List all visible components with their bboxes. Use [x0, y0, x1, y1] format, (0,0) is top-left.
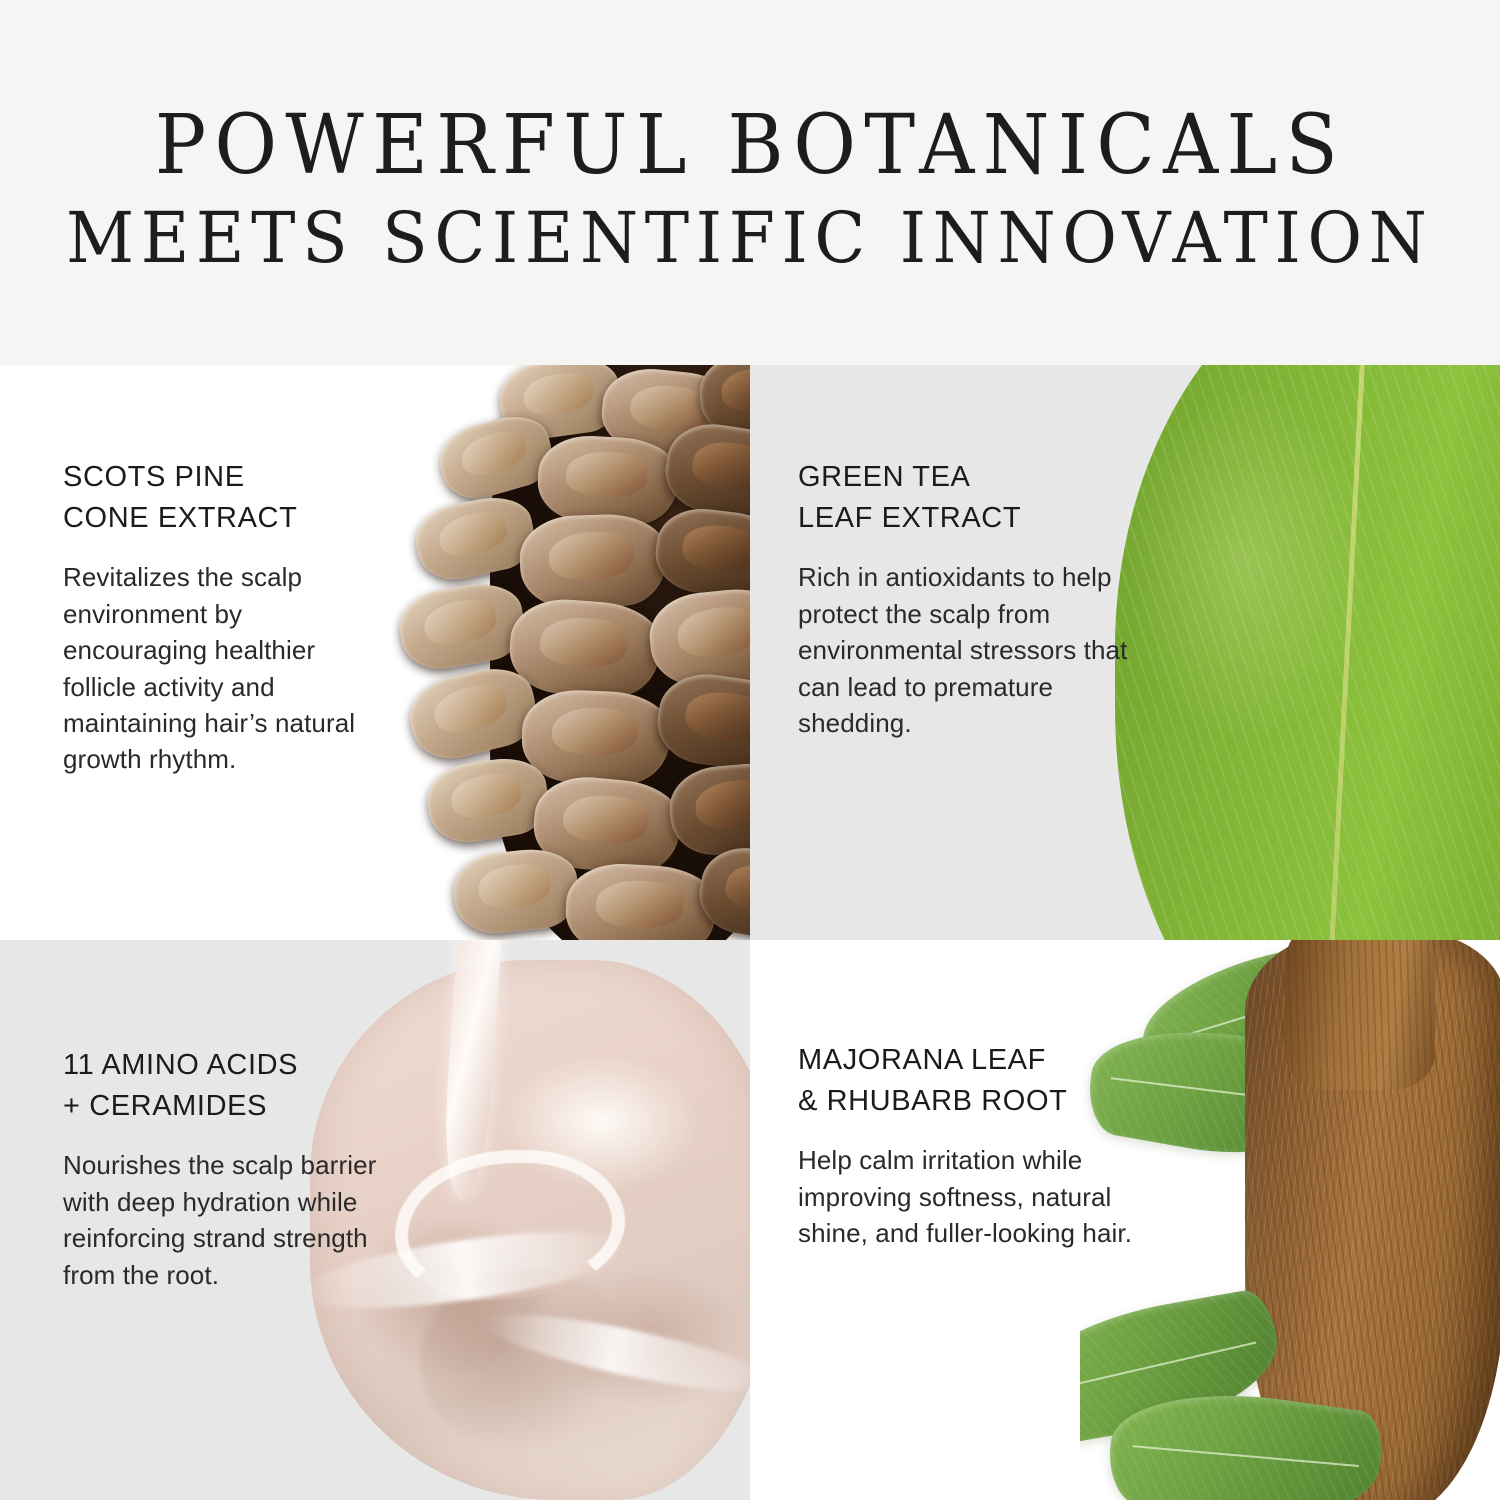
ingredient-infographic: POWERFUL BOTANICALS MEETS SCIENTIFIC INN… [0, 0, 1500, 1500]
card-copy: GREEN TEA LEAF EXTRACT Rich in antioxida… [798, 457, 1173, 741]
headline-line-1: POWERFUL BOTANICALS [154, 105, 1345, 187]
card-title: GREEN TEA LEAF EXTRACT [798, 457, 1173, 539]
ingredient-grid: SCOTS PINE CONE EXTRACT Revitalizes the … [0, 365, 1500, 1500]
card-title: 11 AMINO ACIDS + CERAMIDES [63, 1045, 393, 1127]
card-body: Revitalizes the scalp environment by enc… [63, 559, 393, 777]
card-title: SCOTS PINE CONE EXTRACT [63, 457, 393, 539]
header-band: POWERFUL BOTANICALS MEETS SCIENTIFIC INN… [0, 0, 1500, 365]
headline-line-2: MEETS SCIENTIFIC INNOVATION [66, 203, 1433, 273]
card-majorana-leaf-rhubarb-root: MAJORANA LEAF & RHUBARB ROOT Help calm i… [750, 940, 1500, 1500]
pine-cone-image [370, 365, 750, 940]
card-body: Help calm irritation while improving sof… [798, 1142, 1173, 1251]
card-green-tea-leaf-extract: GREEN TEA LEAF EXTRACT Rich in antioxida… [750, 365, 1500, 940]
card-title: MAJORANA LEAF & RHUBARB ROOT [798, 1040, 1173, 1122]
card-body: Rich in antioxidants to help protect the… [798, 559, 1173, 741]
card-body: Nourishes the scalp barrier with deep hy… [63, 1147, 393, 1293]
card-scots-pine-cone-extract: SCOTS PINE CONE EXTRACT Revitalizes the … [0, 365, 750, 940]
card-copy: SCOTS PINE CONE EXTRACT Revitalizes the … [63, 457, 393, 778]
card-copy: 11 AMINO ACIDS + CERAMIDES Nourishes the… [63, 1045, 393, 1293]
card-copy: MAJORANA LEAF & RHUBARB ROOT Help calm i… [798, 1040, 1173, 1252]
card-amino-acids-ceramides: 11 AMINO ACIDS + CERAMIDES Nourishes the… [0, 940, 750, 1500]
